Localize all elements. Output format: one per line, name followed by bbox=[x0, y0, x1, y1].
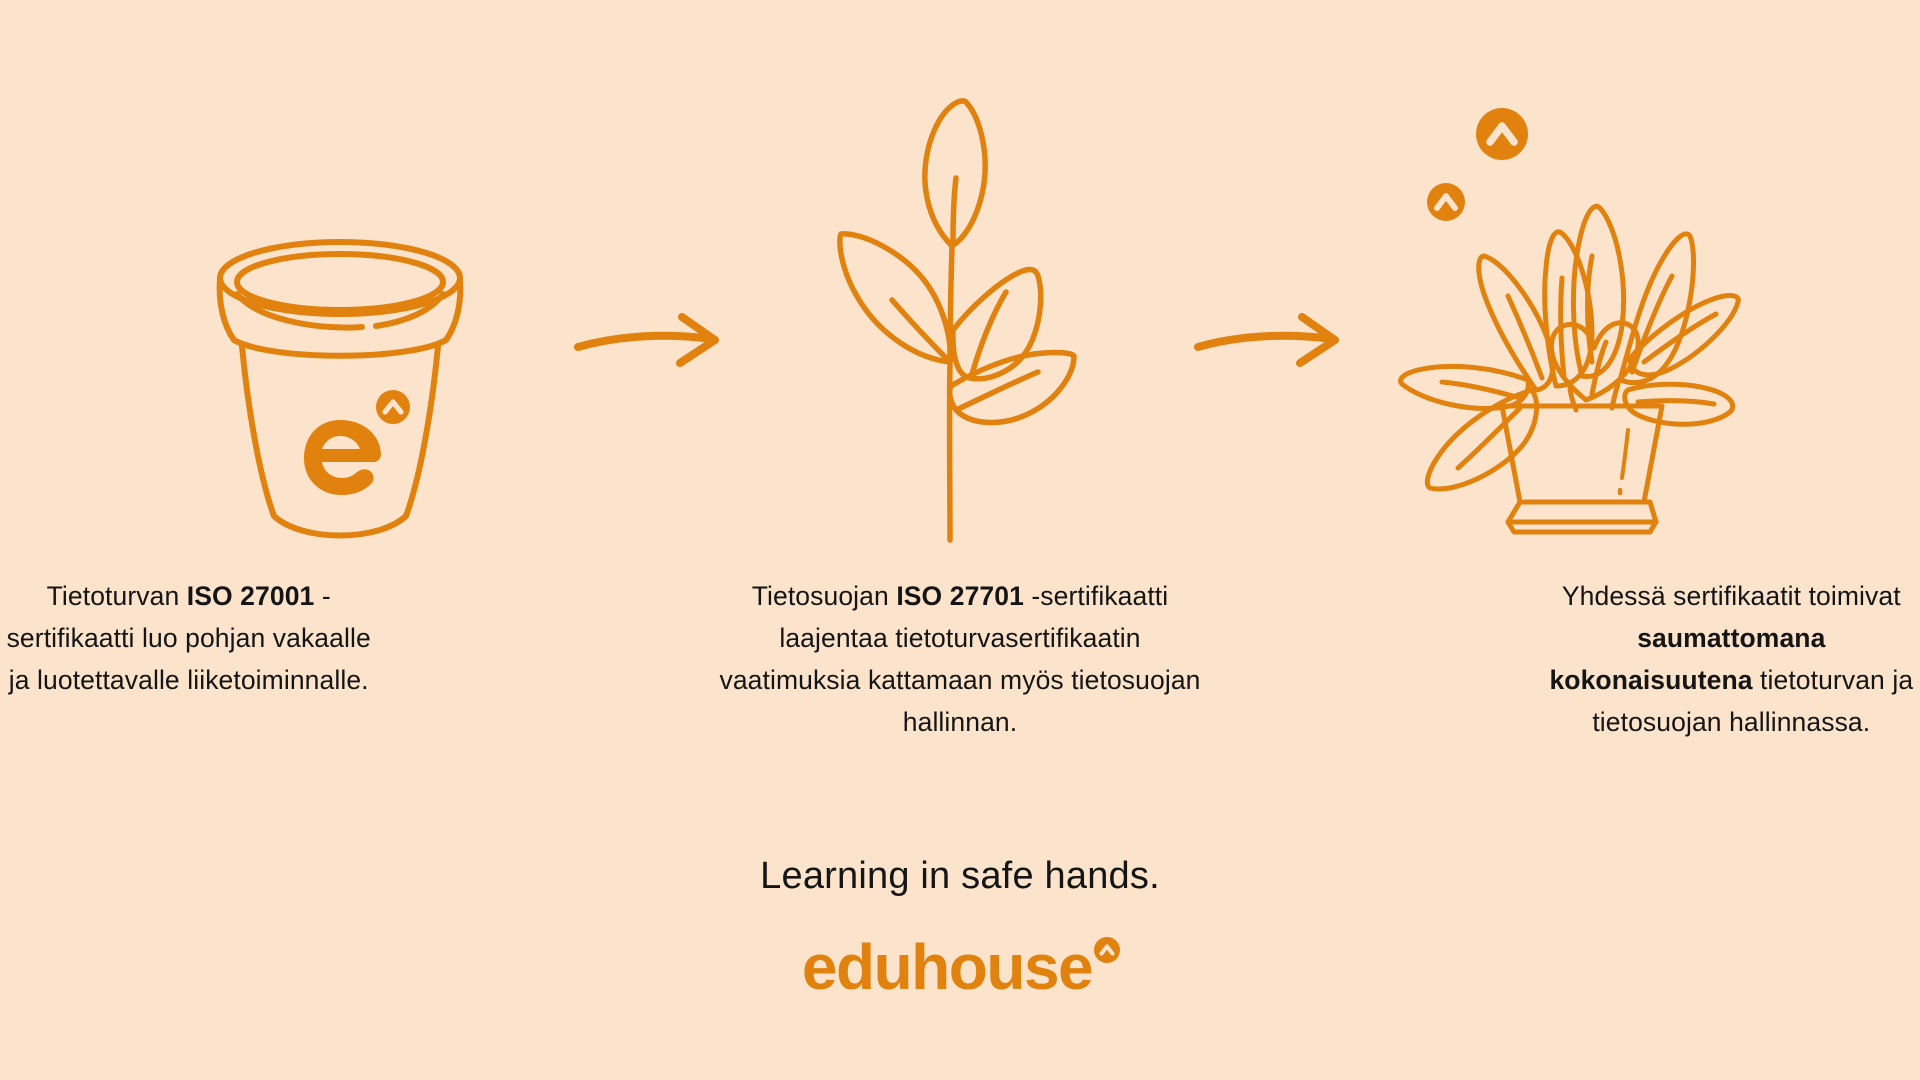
logo-wordmark-text: eduhouse bbox=[802, 931, 1092, 1003]
chevron-badge-large bbox=[1476, 108, 1528, 160]
chevron-badge-small bbox=[1427, 183, 1465, 221]
caption-row: Tietoturvan ISO 27001 -sertifikaatti luo… bbox=[0, 575, 1920, 743]
sprouting-plant-sprig-icon bbox=[810, 90, 1110, 560]
caption-1-part-1: Tietoturvan bbox=[47, 581, 187, 611]
stage-sprouting-sprig bbox=[750, 60, 1170, 560]
stage-empty-pot bbox=[130, 60, 550, 560]
infographic-canvas: Tietoturvan ISO 27001 -sertifikaatti luo… bbox=[0, 0, 1920, 1080]
curved-right-arrow-icon bbox=[570, 305, 730, 375]
chevron-up-in-circle-icon bbox=[376, 390, 410, 424]
caption-3-part-1: Yhdessä sertifikaatit toimivat bbox=[1562, 581, 1901, 611]
logo-wordmark: eduhouse bbox=[802, 935, 1118, 999]
arrow-step-1-to-2 bbox=[550, 90, 750, 590]
caption-step-1: Tietoturvan ISO 27001 -sertifikaatti luo… bbox=[0, 575, 377, 701]
chevron-up-in-circle-icon bbox=[1094, 937, 1120, 963]
caption-step-3: Yhdessä sertifikaatit toimivat saumattom… bbox=[1543, 575, 1920, 743]
caption-2-part-1: Tietosuojan bbox=[752, 581, 897, 611]
tagline: Learning in safe hands. bbox=[0, 855, 1920, 898]
flourishing-potted-plant-icon bbox=[1380, 90, 1780, 560]
logo-chevron-badge bbox=[1094, 909, 1120, 973]
caption-1-part-2: ISO 27001 bbox=[187, 581, 315, 611]
eduhouse-e-mark bbox=[304, 420, 381, 495]
caption-2-part-2: ISO 27701 bbox=[896, 581, 1024, 611]
curved-right-arrow-icon bbox=[1190, 305, 1350, 375]
brand-logo: eduhouse bbox=[0, 935, 1920, 999]
empty-plant-pot-icon bbox=[190, 230, 490, 560]
stage-flourishing-potted-plant bbox=[1370, 60, 1790, 560]
arrow-step-2-to-3 bbox=[1170, 90, 1370, 590]
caption-step-2: Tietosuojan ISO 27701 -sertifikaatti laa… bbox=[717, 575, 1202, 743]
illustration-band bbox=[0, 60, 1920, 560]
